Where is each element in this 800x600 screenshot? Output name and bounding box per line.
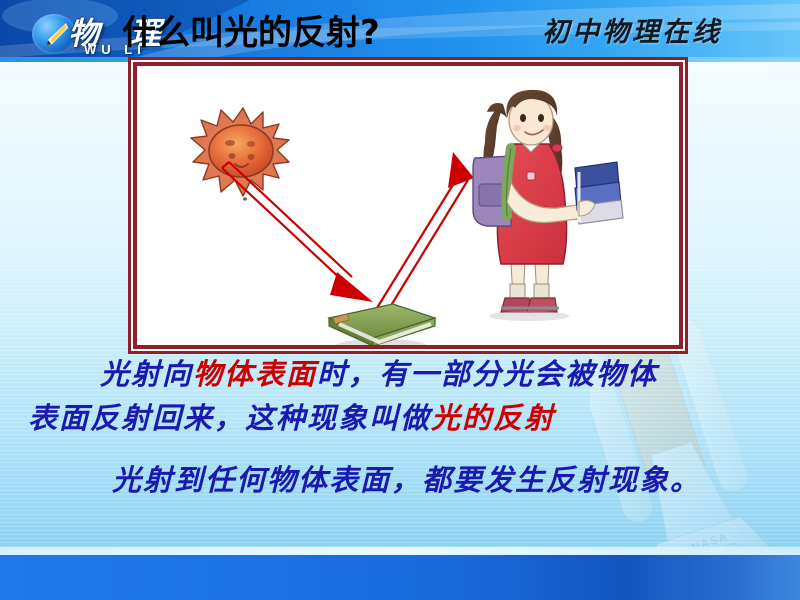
p1-line1-highlight: 物体表面 (193, 357, 317, 391)
slide-body-text: 光射向物体表面时，有一部分光会被物体 表面反射回来，这种现象叫做光的反射 光射到… (0, 352, 800, 502)
p1-line1-part-a: 光射向 (100, 357, 193, 391)
illustration-panel (133, 62, 683, 349)
reflected-arrow-head (448, 152, 474, 188)
presentation-slide: NASA 物 理 WU LI 什么叫光的反射? 初中 (0, 0, 800, 600)
green-book-icon (329, 304, 435, 345)
page-title: 什么叫光的反射? (122, 5, 380, 54)
bottom-bar (0, 555, 800, 600)
light-reflection-diagram (137, 66, 679, 345)
p1-line1-part-b: 时，有一部分光会被物体 (317, 357, 658, 391)
brand-watermark-text: 初中物理在线 (542, 10, 722, 49)
illustration-canvas (137, 66, 679, 345)
paragraph-one: 光射向物体表面时，有一部分光会被物体 表面反射回来，这种现象叫做光的反射 (56, 352, 800, 440)
p1-line2-part-a: 表面反射回来，这种现象叫做 (28, 401, 431, 435)
bottom-light-strip (0, 547, 800, 555)
slide-header: 物 理 WU LI 什么叫光的反射? 初中物理在线 (0, 0, 800, 62)
paragraph-two: 光射到任何物体表面，都要发生反射现象。 (36, 458, 800, 502)
p1-line2: 表面反射回来，这种现象叫做光的反射 (28, 396, 800, 440)
p1-line2-highlight: 光的反射 (431, 401, 555, 435)
reflected-light-arrow (377, 175, 468, 312)
schoolgirl-with-backpack-icon (473, 90, 623, 321)
sun-face-icon (191, 108, 289, 201)
